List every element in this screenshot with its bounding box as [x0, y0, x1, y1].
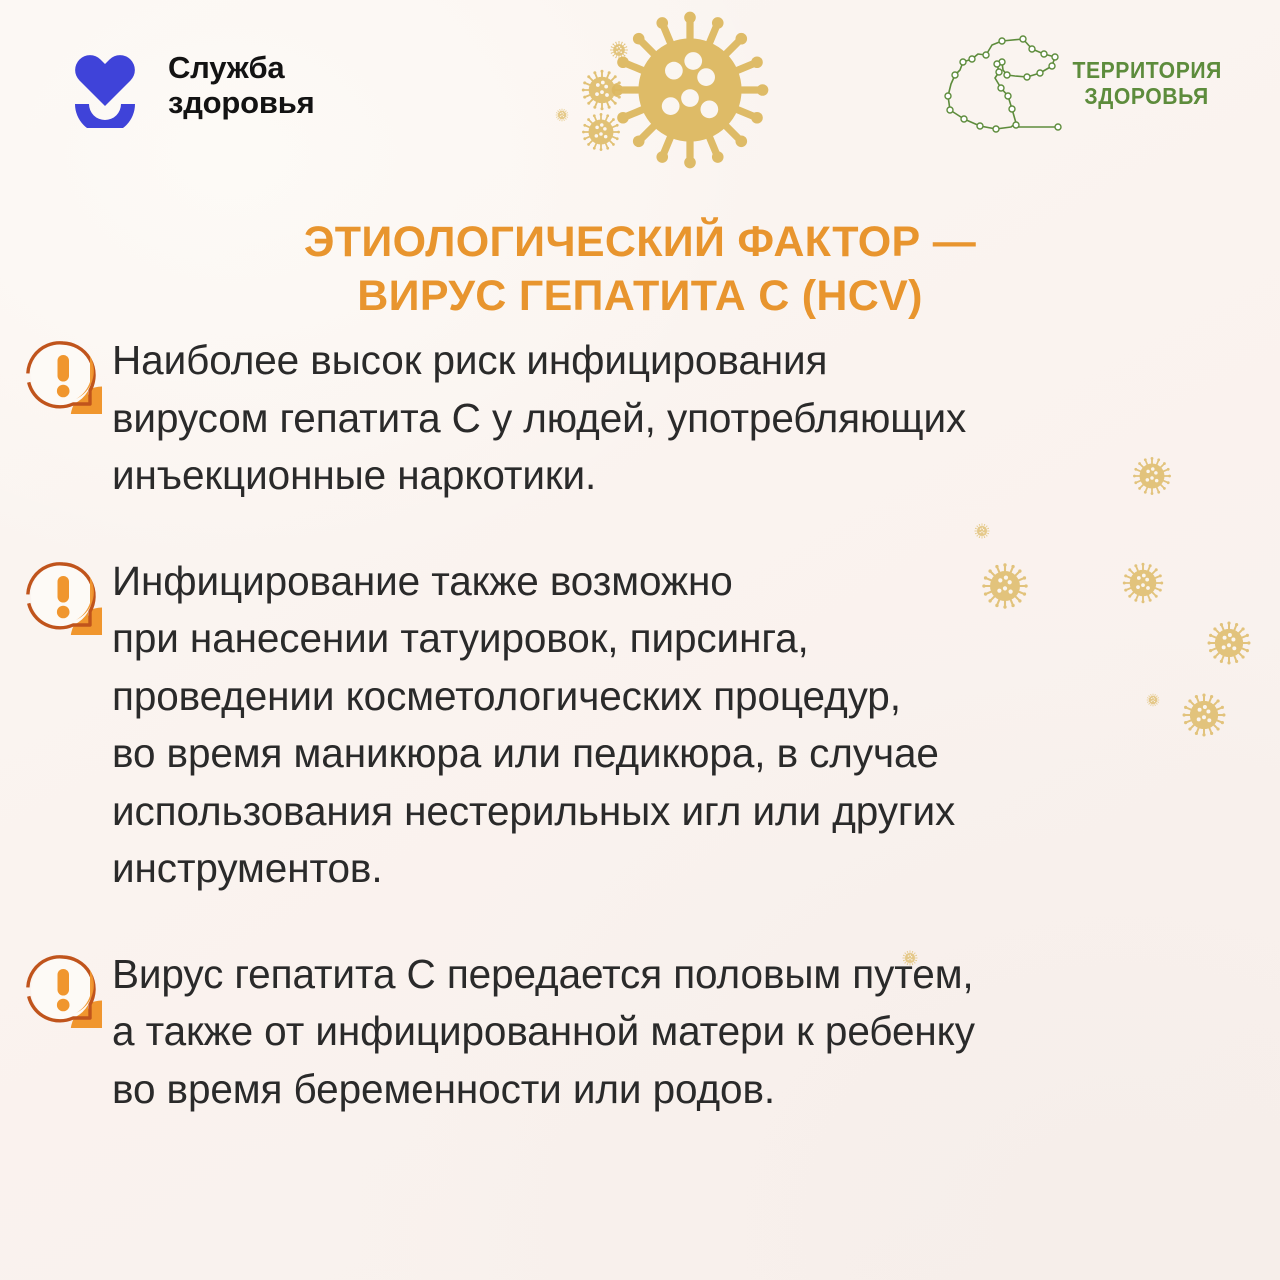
list-item: Вирус гепатита С передается половым путе…: [24, 944, 1256, 1119]
infographic-poster: Служба здоровья: [0, 0, 1280, 1280]
bullet-text: Вирус гепатита С передается половым путе…: [112, 944, 1256, 1119]
poster-header: Служба здоровья: [0, 0, 1280, 170]
exclamation-bubble-icon: [24, 950, 102, 1028]
exclamation-bubble-icon: [24, 557, 102, 635]
heart-smile-logo-icon: [62, 42, 148, 128]
bullet-list: Наиболее высок риск инфицирования вирусо…: [24, 330, 1256, 1118]
brand-right-line1: ТЕРРИТОРИЯ: [1072, 59, 1221, 82]
brand-territoriya-zdorovya: ТЕРРИТОРИЯ ЗДОРОВЬЯ: [936, 26, 1228, 138]
brand-sluzhba-zdorovya: Служба здоровья: [62, 42, 315, 128]
bullet-text: Инфицирование также возможно при нанесен…: [112, 551, 1256, 898]
bullet-text: Наиболее высок риск инфицирования вирусо…: [112, 330, 1256, 505]
region-map-outline-icon: [936, 26, 1062, 138]
list-item: Наиболее высок риск инфицирования вирусо…: [24, 330, 1256, 505]
page-title: ЭТИОЛОГИЧЕСКИЙ ФАКТОР — ВИРУС ГЕПАТИТА С…: [0, 215, 1280, 323]
brand-right-label: ТЕРРИТОРИЯ ЗДОРОВЬЯ: [1066, 59, 1228, 108]
brand-right-line2: ЗДОРОВЬЯ: [1085, 85, 1209, 108]
exclamation-bubble-icon: [24, 336, 102, 414]
list-item: Инфицирование также возможно при нанесен…: [24, 551, 1256, 898]
brand-left-label: Служба здоровья: [168, 50, 315, 121]
